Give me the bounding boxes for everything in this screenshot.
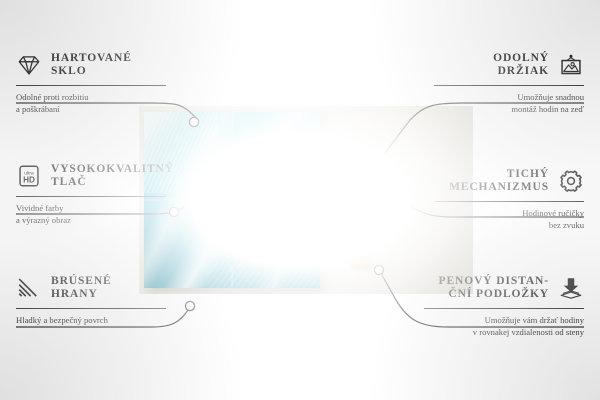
- feature-description: Umožňuje vám držať hodiny v rovnakej vzd…: [424, 314, 584, 338]
- title-line-1: ODOLNÝ: [493, 52, 549, 65]
- title-line-2: SKLO: [51, 65, 132, 78]
- feature-title: TICHÝ MECHANIZMUS: [449, 168, 549, 195]
- feature-silent-mechanism: TICHÝ MECHANIZMUS Hodinové ručičky bez z…: [434, 168, 584, 231]
- feature-tempered-glass: HARTOVANÉ SKLO Odolné proti rozbitiu a p…: [16, 52, 166, 115]
- desc-line-2: a poškrábaní: [16, 103, 166, 115]
- battery-terminal: [374, 198, 378, 204]
- title-line-1: VYSOKOKVALITNÝ: [51, 163, 174, 176]
- product-photo: [139, 106, 473, 294]
- title-line-1: BRÚSENÉ: [51, 275, 112, 288]
- desc-line-1: Umožňuje vám držať hodiny: [424, 314, 584, 326]
- gear-icon: [558, 169, 584, 193]
- divider: [16, 85, 166, 86]
- feature-description: Hladký a bezpečný povrch: [16, 314, 166, 326]
- desc-line-1: Hodinové ručičky: [434, 207, 584, 219]
- feature-description: Vividné farby a výrazný obraz: [16, 202, 166, 226]
- title-line-2: MECHANIZMUS: [449, 181, 549, 194]
- down-arrow-pad-icon: [558, 276, 584, 300]
- desc-line-1: Hladký a bezpečný povrch: [16, 314, 166, 326]
- title-line-1: HARTOVANÉ: [51, 52, 132, 65]
- desc-line-2: bez zvuku: [434, 219, 584, 231]
- feature-title: VYSOKOKVALITNÝ TLAČ: [51, 163, 174, 190]
- desc-line-1: Odolné proti rozbitiu: [16, 91, 166, 103]
- svg-text:HD: HD: [23, 176, 35, 185]
- divider: [16, 196, 166, 197]
- divider: [434, 201, 584, 202]
- desc-line-1: Vividné farby: [16, 202, 166, 214]
- ultra-hd-icon: ultra HD: [16, 164, 42, 188]
- feature-description: Hodinové ručičky bez zvuku: [434, 207, 584, 231]
- feature-title: HARTOVANÉ SKLO: [51, 52, 132, 79]
- feature-high-quality-print: ultra HD VYSOKOKVALITNÝ TLAČ Vividné far…: [16, 163, 166, 226]
- feature-header: HARTOVANÉ SKLO: [16, 52, 166, 79]
- feature-header: PENOVÝ DISTAN- ČNÍ PODLOŽKY: [424, 275, 584, 302]
- feature-description: Odolné proti rozbitiu a poškrábaní: [16, 91, 166, 115]
- feature-title: ODOLNÝ DRŽIAK: [493, 52, 549, 79]
- framed-picture-icon: [558, 53, 584, 77]
- foam-spacer-pad: [350, 248, 369, 267]
- feature-foam-spacers: PENOVÝ DISTAN- ČNÍ PODLOŽKY Umožňuje vám…: [424, 275, 584, 338]
- desc-line-2: a výrazný obraz: [16, 214, 166, 226]
- divider: [16, 308, 166, 309]
- divider: [434, 85, 584, 86]
- clock-mechanism: [342, 172, 381, 210]
- feature-header: TICHÝ MECHANIZMUS: [434, 168, 584, 195]
- feature-description: Umožňuje snadnou montáž hodin na zeď: [434, 91, 584, 115]
- feature-header: BRÚSENÉ HRANY: [16, 275, 166, 302]
- desc-line-2: montáž hodin na zeď: [434, 103, 584, 115]
- feature-title: BRÚSENÉ HRANY: [51, 275, 112, 302]
- feature-header: ODOLNÝ DRŽIAK: [434, 52, 584, 79]
- title-line-2: DRŽIAK: [493, 65, 549, 78]
- desc-line-1: Umožňuje snadnou: [434, 91, 584, 103]
- feature-durable-holder: ODOLNÝ DRŽIAK Umožňuje snadnou montáž ho…: [434, 52, 584, 115]
- title-line-2: HRANY: [51, 288, 112, 301]
- title-line-1: PENOVÝ DISTAN-: [439, 275, 549, 288]
- feature-header: ultra HD VYSOKOKVALITNÝ TLAČ: [16, 163, 166, 190]
- feature-ground-edges: BRÚSENÉ HRANY Hladký a bezpečný povrch: [16, 275, 166, 326]
- title-line-2: ČNÍ PODLOŽKY: [439, 288, 549, 301]
- title-line-1: TICHÝ: [449, 168, 549, 181]
- infographic-canvas: HARTOVANÉ SKLO Odolné proti rozbitiu a p…: [0, 0, 600, 400]
- desc-line-2: v rovnakej vzdialenosti od steny: [424, 326, 584, 338]
- title-line-2: TLAČ: [51, 176, 174, 189]
- clock-center-hub: [230, 198, 235, 203]
- wall-clock: [144, 112, 320, 288]
- divider: [424, 308, 584, 309]
- diamond-icon: [16, 53, 42, 77]
- beveled-edges-icon: [16, 276, 42, 300]
- mechanism-label: [346, 176, 377, 190]
- feature-title: PENOVÝ DISTAN- ČNÍ PODLOŽKY: [439, 275, 549, 302]
